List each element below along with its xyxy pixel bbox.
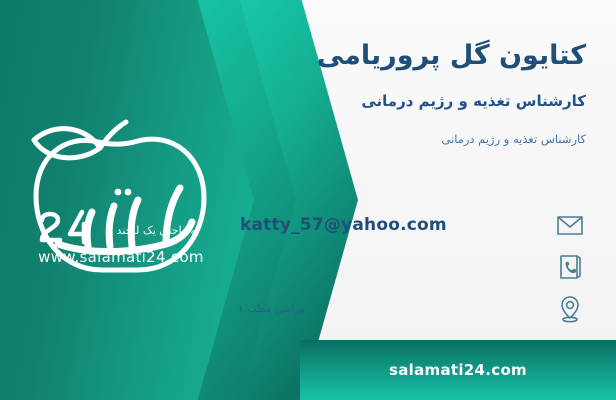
footer-website[interactable]: salamati24.com bbox=[389, 361, 527, 379]
person-name: کتایون گل پروریامی bbox=[234, 40, 586, 71]
footer-bar: salamati24.com bbox=[300, 340, 616, 400]
person-role-secondary: کارشناس تغذیه و رژیم درمانی bbox=[234, 132, 586, 146]
phone-value bbox=[234, 267, 550, 268]
business-card: به راحتی یک لبخند www.salamati24.com کتا… bbox=[0, 0, 616, 400]
map-pin-icon bbox=[550, 290, 590, 328]
address-value[interactable]: ورامین مطب ۱ bbox=[234, 303, 550, 315]
envelope-icon bbox=[550, 206, 590, 244]
logo-tagline: به راحتی یک لبخند bbox=[96, 224, 220, 237]
contact-row-address[interactable]: ورامین مطب ۱ bbox=[234, 290, 590, 328]
contact-list: katty_57@yahoo.com bbox=[234, 206, 590, 332]
phone-book-icon bbox=[550, 248, 590, 286]
email-value[interactable]: katty_57@yahoo.com bbox=[234, 215, 550, 235]
card-content: کتایون گل پروریامی کارشناس تغذیه و رژیم … bbox=[232, 0, 592, 330]
contact-row-email[interactable]: katty_57@yahoo.com bbox=[234, 206, 590, 244]
person-role-primary: کارشناس تغذیه و رژیم درمانی bbox=[234, 92, 586, 110]
logo-website: www.salamati24.com bbox=[28, 248, 214, 266]
contact-row-phone[interactable] bbox=[234, 248, 590, 286]
